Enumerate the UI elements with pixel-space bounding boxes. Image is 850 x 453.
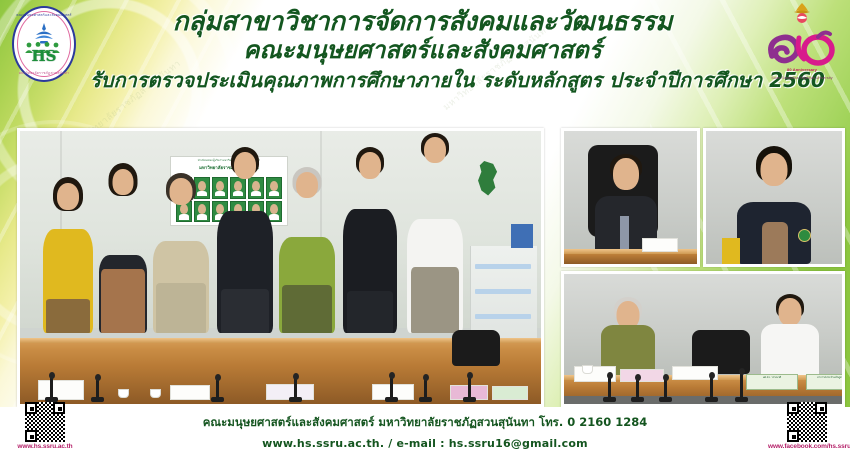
qr-code-website[interactable]: www.hs.ssru.ac.th [6, 402, 84, 450]
microphone [96, 378, 99, 402]
poster-title-block: กลุ่มสาขาวิชาการจัดการสังคมและวัฒนธรรม ค… [90, 8, 755, 92]
microphone [636, 378, 639, 402]
title-line-1: กลุ่มสาขาวิชาการจัดการสังคมและวัฒนธรรม [90, 8, 755, 36]
title-line-3: รับการตรวจประเมินคุณภาพการศึกษาภายใน ระด… [90, 70, 755, 92]
poster-header: คณะมนุษยศาสตร์และสังคมศาสตร์ HS มหาวิทยา… [0, 0, 850, 122]
thai-numeral-80 [766, 26, 838, 68]
nameplate: ผศ.ดร. วรรณวดี [746, 374, 798, 390]
microphone [710, 376, 713, 402]
blouse [762, 222, 788, 264]
wall-poster-small [511, 224, 533, 248]
background-person [722, 238, 740, 264]
paper-stack [620, 369, 664, 382]
anniversary-80-logo-icon: 80 Anniversary Suan Sunandha Rajabhat Un… [762, 4, 842, 84]
seal-initials: HS [12, 47, 76, 65]
microphone [740, 372, 743, 402]
microphone [390, 376, 393, 402]
portrait-scene [564, 131, 697, 264]
portrait-scene [706, 131, 842, 264]
person-figure [216, 147, 274, 333]
meeting-room-scene: ผศ.ดร. วรรณวดี อาจารย์ประจำหลักสูตร [564, 274, 842, 404]
hs-faculty-seal-icon: คณะมนุษยศาสตร์และสังคมศาสตร์ HS มหาวิทยา… [12, 6, 76, 82]
coffee-cup [150, 389, 161, 398]
seal-ring-text-top: คณะมนุษยศาสตร์และสังคมศาสตร์ [12, 13, 76, 18]
poster-canvas: มหาวิทยาลัยราชภัฏสวนสุนันทา มหาวิทยาลัยร… [0, 0, 850, 453]
qr-facebook-caption: www.facebook.com/hs.ssru [768, 443, 846, 450]
faculty-emblem-pin [798, 229, 811, 242]
person-figure [278, 167, 336, 333]
person-figure [152, 173, 210, 333]
paper-stack [642, 238, 678, 252]
person-figure [42, 177, 94, 333]
microphone [424, 378, 427, 402]
microphone [664, 378, 667, 402]
title-line-2: คณะมนุษยศาสตร์และสังคมศาสตร์ [90, 38, 755, 64]
meeting-room-scene: ทำเนียบคณะผู้บริหารมหาวิทยาลัยราชภัฏสวนส… [20, 131, 541, 404]
anniversary-caption-2: Suan Sunandha Rajabhat University [762, 76, 842, 80]
person-figure [600, 297, 656, 375]
footer-web-line: www.hs.ssru.ac.th. / e-mail : hs.ssru16@… [0, 437, 850, 450]
person-figure [760, 294, 820, 378]
microphone [50, 376, 53, 402]
coffee-cup [118, 389, 129, 398]
committee-member-photo [703, 128, 845, 267]
committee-chair-photo [561, 128, 700, 267]
qr-code-facebook[interactable]: www.facebook.com/hs.ssru [768, 402, 846, 450]
nameplate: อาจารย์ประจำหลักสูตร [806, 374, 845, 390]
microphone [608, 376, 611, 402]
coffee-cup [582, 365, 593, 374]
interview-session-photo: ผศ.ดร. วรรณวดี อาจารย์ประจำหลักสูตร [561, 271, 845, 407]
qr-website-caption: www.hs.ssru.ac.th [6, 443, 84, 450]
office-chair [452, 330, 500, 366]
qr-code-image[interactable] [787, 402, 827, 442]
footer-contact-line: คณะมนุษยศาสตร์และสังคมศาสตร์ มหาวิทยาลัย… [0, 414, 850, 432]
person-figure [406, 133, 464, 333]
anniversary-caption-1: 80 Anniversary [762, 67, 842, 72]
person-figure [342, 147, 398, 333]
seal-ring-text-bottom: มหาวิทยาลัยราชภัฏสวนสุนันทา [12, 71, 76, 76]
person-figure [98, 163, 148, 333]
paper-stack [492, 386, 528, 400]
microphone [216, 378, 219, 402]
qr-code-image[interactable] [25, 402, 65, 442]
main-group-photo: ทำเนียบคณะผู้บริหารมหาวิทยาลัยราชภัฏสวนส… [17, 128, 544, 407]
microphone [468, 376, 471, 402]
paper-stack [170, 385, 210, 400]
poster-footer: คณะมนุษยศาสตร์และสังคมศาสตร์ มหาวิทยาลัย… [0, 407, 850, 453]
microphone [294, 377, 297, 402]
